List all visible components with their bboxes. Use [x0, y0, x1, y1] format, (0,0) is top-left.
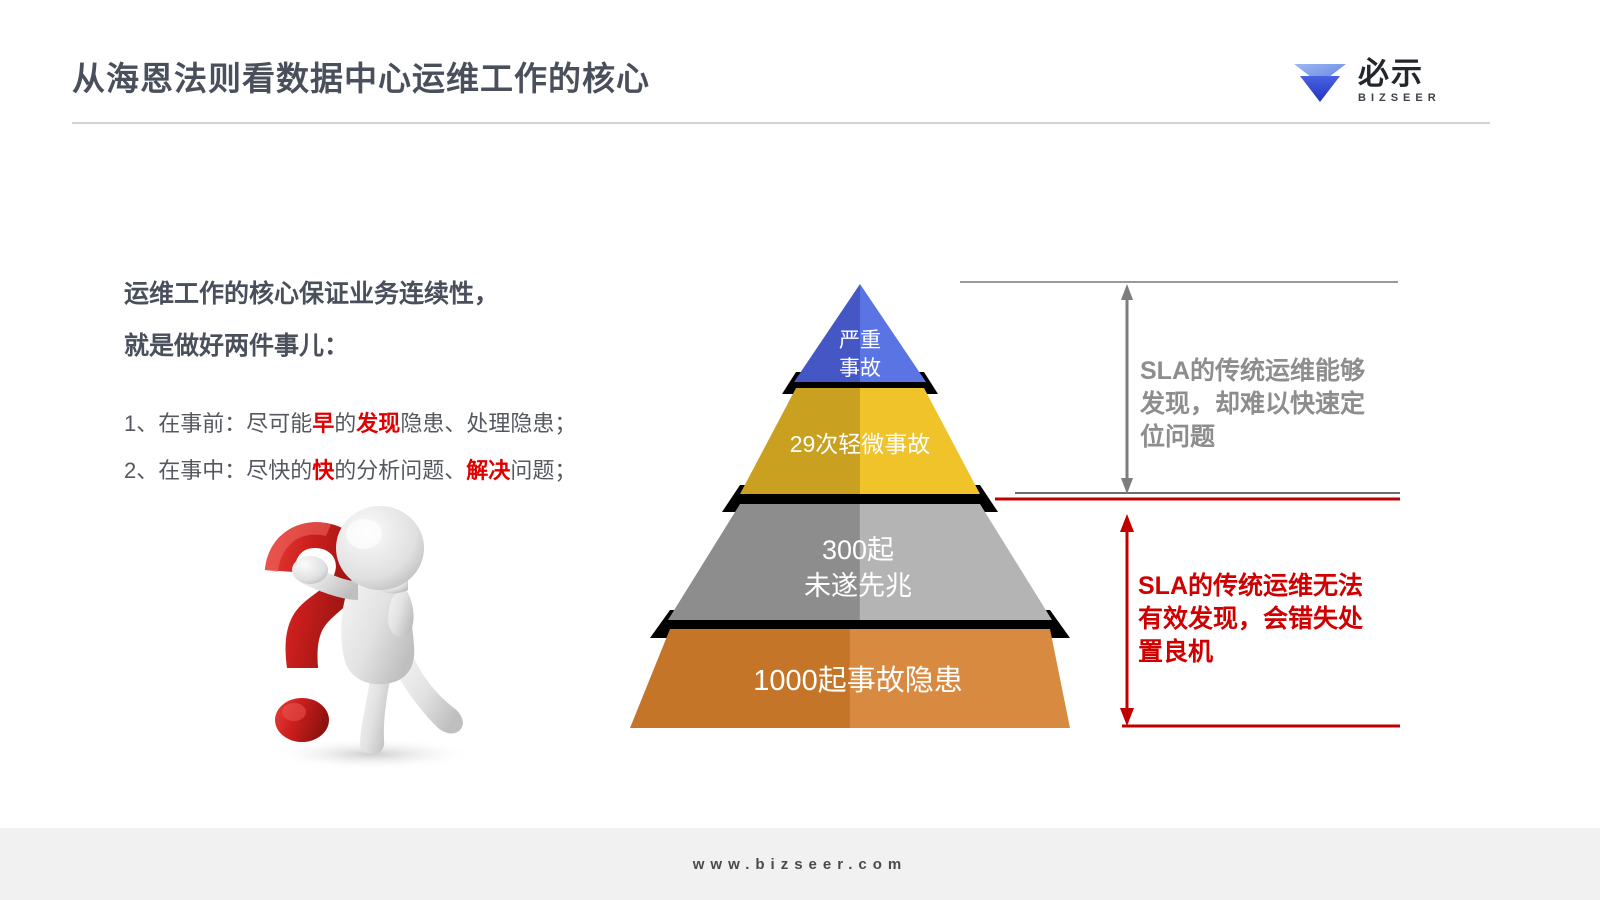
- page-title: 从海恩法则看数据中心运维工作的核心: [72, 52, 650, 100]
- lower-double-arrow-icon: [1120, 514, 1134, 726]
- callout-upper-label: SLA的传统运维能够发现，却难以快速定位问题: [1140, 355, 1388, 454]
- hand-icon: [292, 556, 328, 584]
- bullet-index: 1、: [124, 411, 158, 436]
- bullet-mid: 的分析问题、: [334, 458, 466, 483]
- callout-group: SLA的传统运维能够发现，却难以快速定位问题 SLA的传统运维无法有效发现，会错…: [960, 260, 1430, 750]
- footer-url: www.bizseer.com: [0, 828, 1600, 900]
- bullet-prefix: 在事前：尽可能: [158, 411, 312, 436]
- pyramid-level-2-label-line-1: 300起: [822, 535, 894, 565]
- pyramid-level-1-label: 29次轻微事故: [790, 431, 931, 457]
- bizseer-chevron-icon: [1292, 58, 1348, 104]
- logo-chinese-name: 必示: [1358, 58, 1424, 89]
- bullet-highlight-1: 快: [312, 458, 334, 483]
- bullet-mid: 的: [334, 411, 356, 436]
- logo-wordmark: 必示 BIZSEER: [1358, 58, 1441, 104]
- logo-english-name: BIZSEER: [1358, 93, 1441, 104]
- callout-lower-label: SLA的传统运维无法有效发现，会错失处置良机: [1138, 570, 1386, 669]
- upper-double-arrow-icon: [1121, 284, 1133, 494]
- bullet-highlight-2: 解决: [466, 458, 510, 483]
- bullet-suffix: 问题；: [510, 458, 576, 483]
- bullet-suffix: 隐患、处理隐患；: [400, 411, 576, 436]
- pyramid-level-0-label-line-2: 事故: [839, 357, 881, 380]
- header-divider: [72, 122, 1490, 124]
- head-icon: [336, 506, 424, 590]
- brand-logo: 必示 BIZSEER: [1292, 50, 1492, 112]
- pyramid-level-0-label-line-1: 严重: [839, 329, 881, 352]
- bullet-highlight-2: 发现: [356, 411, 400, 436]
- pyramid-level-3-label: 1000起事故隐患: [753, 664, 963, 697]
- bullet-highlight-1: 早: [312, 411, 334, 436]
- pyramid-level-severe-accident[interactable]: 严重 事故: [794, 284, 926, 382]
- pyramid-level-2-label-line-2: 未遂先兆: [804, 571, 912, 601]
- thinking-figure-illustration: [222, 498, 492, 770]
- bullet-index: 2、: [124, 458, 158, 483]
- bullet-prefix: 在事中：尽快的: [158, 458, 312, 483]
- pyramid-level-minor-accidents[interactable]: 29次轻微事故: [740, 388, 980, 494]
- callout-arrows-and-rules: [960, 260, 1430, 750]
